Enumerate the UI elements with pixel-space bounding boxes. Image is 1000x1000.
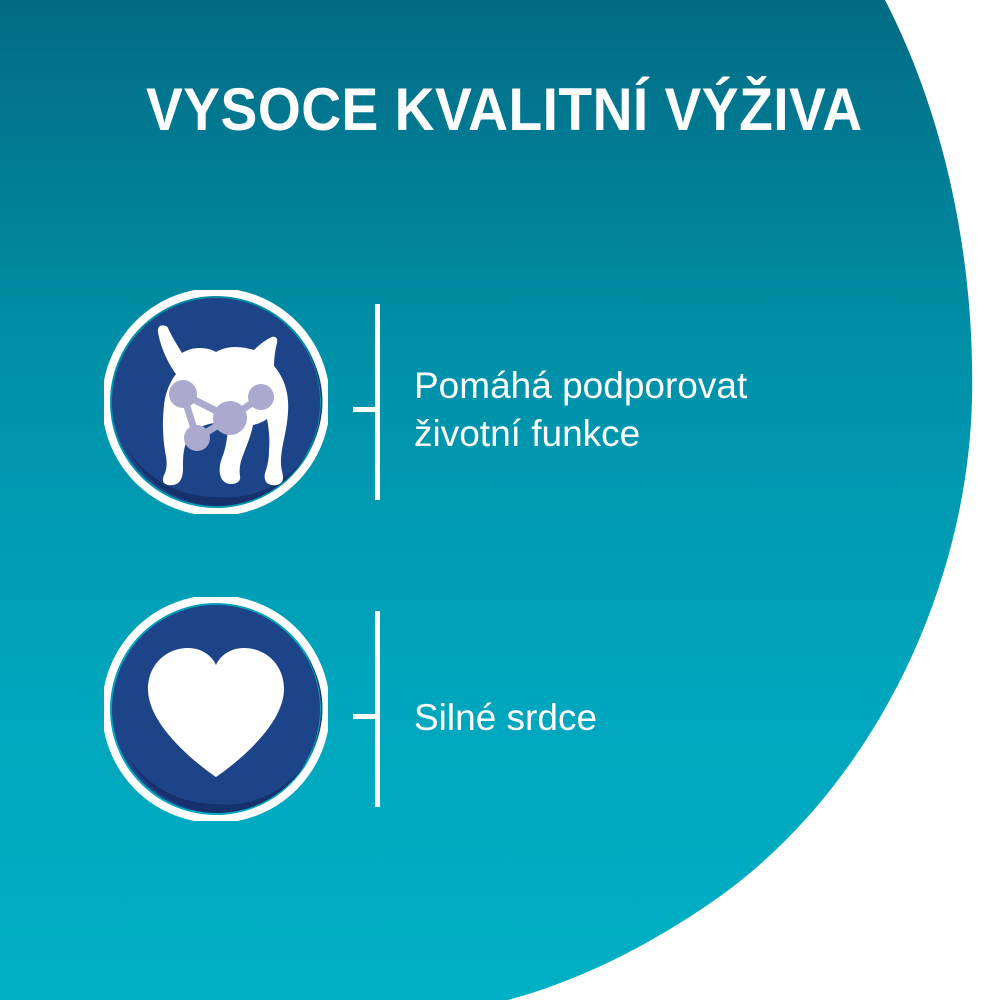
- connector-tick: [353, 714, 380, 719]
- promo-panel: VYSOCE KVALITNÍ VÝŽIVA: [0, 0, 1000, 1000]
- feature-label: Pomáhá podporovat životní funkce: [414, 362, 884, 458]
- heart-icon: [104, 597, 328, 821]
- connector-vertical-line: [375, 611, 380, 807]
- feature-badge: [104, 597, 328, 821]
- connector-tick: [353, 407, 380, 412]
- feature-row: Silné srdce: [0, 597, 1000, 837]
- feature-label-line: životní funkce: [414, 410, 884, 458]
- feature-label: Silné srdce: [414, 694, 884, 742]
- feature-row: Pomáhá podporovat životní funkce: [0, 290, 1000, 530]
- feature-label-line: Pomáhá podporovat: [414, 362, 884, 410]
- connector-line: [352, 597, 384, 821]
- connector-vertical-line: [375, 304, 380, 500]
- connector-line: [352, 290, 384, 514]
- feature-badge: [104, 290, 328, 514]
- cat-molecule-icon: [104, 290, 328, 514]
- feature-label-line: Silné srdce: [414, 694, 884, 742]
- page-title: VYSOCE KVALITNÍ VÝŽIVA: [146, 78, 864, 142]
